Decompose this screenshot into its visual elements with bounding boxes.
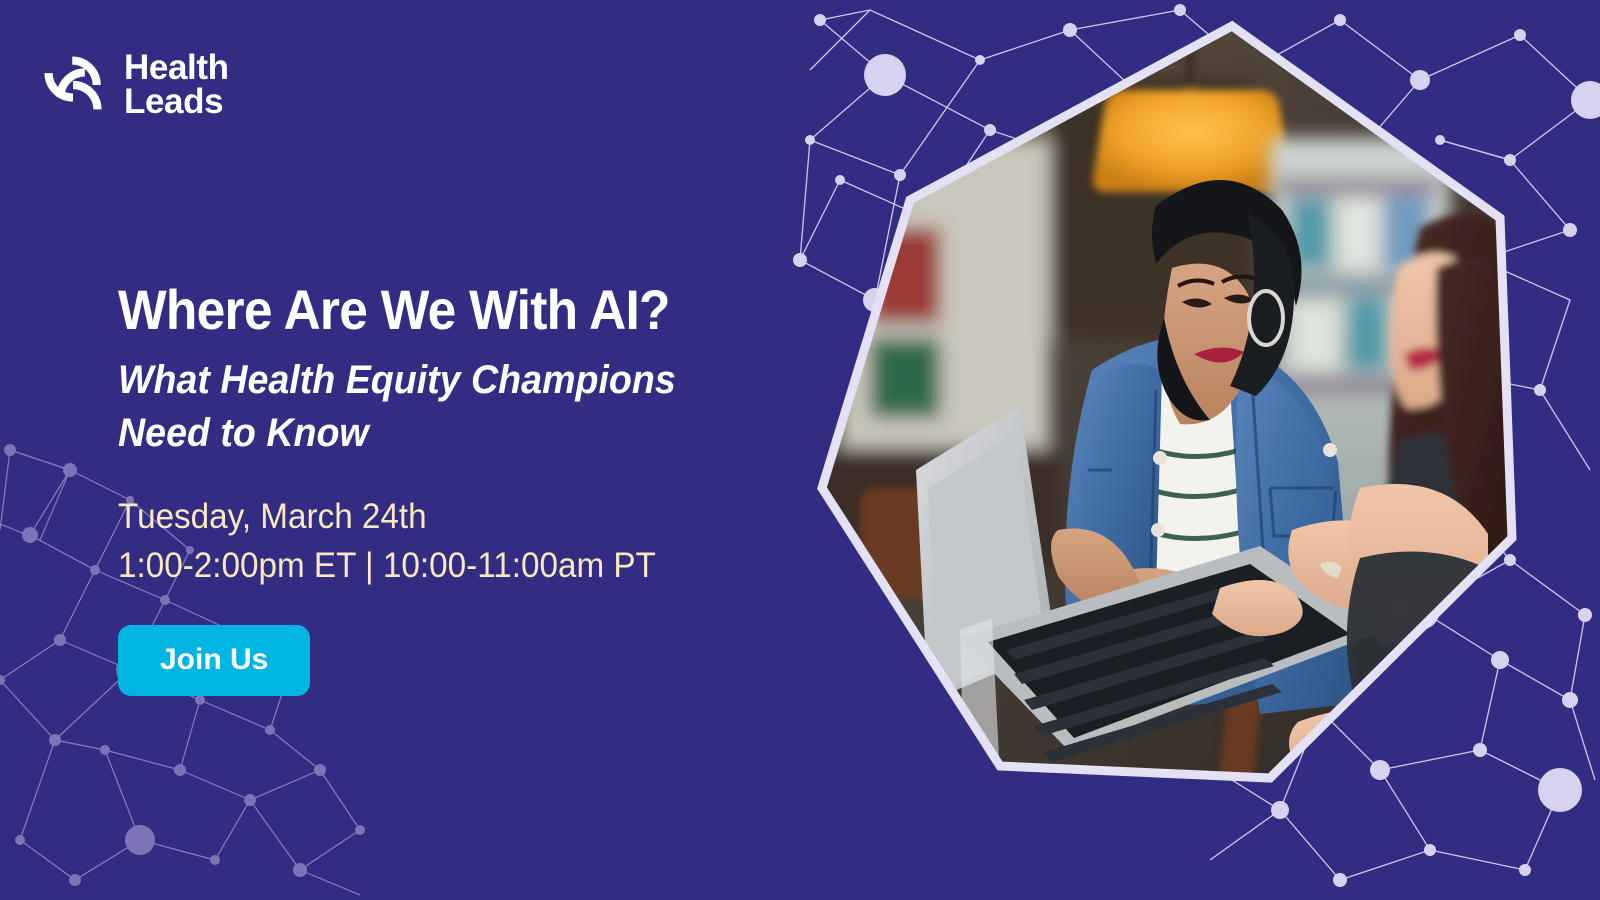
event-subtitle: What Health Equity Champions Need to Kno… [118,354,804,460]
event-subtitle-line2: Need to Know [118,407,804,460]
webinar-promo-banner: Health Leads [0,0,1600,900]
event-time: 1:00-2:00pm ET | 10:00-11:00am PT [118,541,812,591]
event-photo [800,18,1520,808]
event-photo-border [800,18,1520,808]
join-us-button[interactable]: Join Us [118,625,310,696]
brand-logo[interactable]: Health Leads [36,48,229,122]
page-title: Where Are We With AI? [118,282,790,338]
brand-name: Health Leads [124,51,229,119]
brand-name-line2: Leads [124,85,229,119]
event-copy: Where Are We With AI? What Health Equity… [118,282,848,696]
pinwheel-swirl-logo-icon [36,48,110,122]
brand-name-line1: Health [124,51,229,85]
event-datetime: Tuesday, March 24th 1:00-2:00pm ET | 10:… [118,492,812,591]
event-subtitle-line1: What Health Equity Champions [118,354,804,407]
event-date: Tuesday, March 24th [118,492,812,542]
